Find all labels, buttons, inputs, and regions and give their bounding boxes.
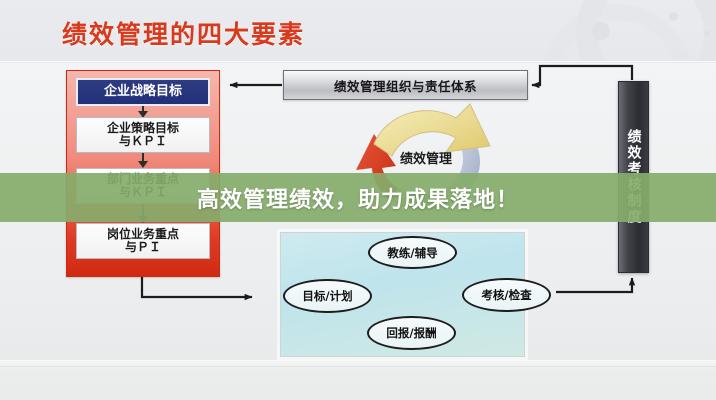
strategy-box-3: 岗位业务重点 与ＰＩ — [76, 223, 210, 259]
strategy-box-1-line2: 与ＫＰＩ — [107, 135, 179, 148]
connector-vbox-to-topbox — [532, 66, 632, 85]
cycle-center-label: 绩效管理 — [383, 148, 469, 167]
pdca-node-goal-plan: 目标/计划 — [283, 279, 372, 313]
strategy-box-3-line2: 与ＰＩ — [107, 241, 179, 254]
strategy-arrow-0-icon — [142, 106, 144, 111]
pdca-node-reward-pay: 回报/报酬 — [367, 316, 456, 350]
pdca-node-assess-check: 考核/检查 — [462, 278, 551, 312]
promo-banner: 高效管理绩效，助力成果落地！ — [0, 173, 716, 222]
strategy-box-0-line1: 企业战略目标 — [104, 85, 182, 99]
strategy-arrow-1-icon — [142, 153, 144, 161]
slide-canvas: 绩效管理的四大要素 企业战略目标 企业策略目标 — [0, 0, 716, 400]
connector-strategy-to-pdca — [142, 277, 252, 297]
pdca-node-coach-guide: 教练/辅导 — [368, 236, 457, 269]
connector-pdca-to-vbox — [556, 278, 632, 292]
strategy-box-0: 企业战略目标 — [76, 78, 210, 106]
promo-banner-text: 高效管理绩效，助力成果落地！ — [197, 182, 519, 214]
strategy-box-1: 企业策略目标 与ＫＰＩ — [76, 117, 210, 153]
org-responsibility-box: 绩效管理组织与责任体系 — [283, 70, 528, 100]
